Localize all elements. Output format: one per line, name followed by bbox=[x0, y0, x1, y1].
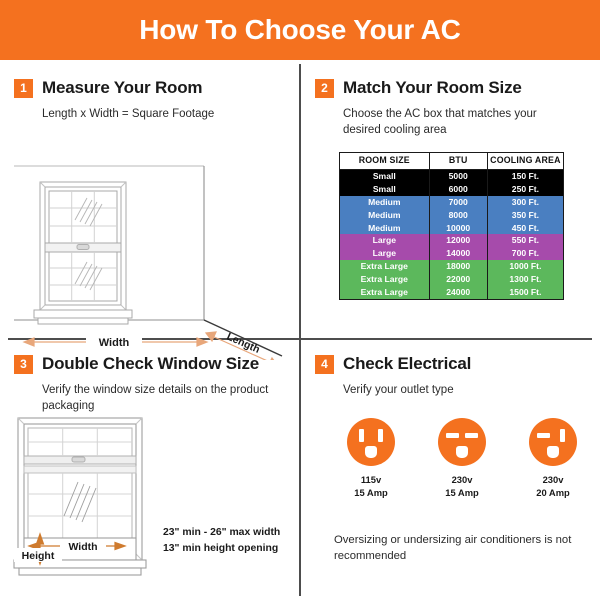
column-header-room-size: ROOM SIZE bbox=[340, 153, 430, 170]
width-label-3: Width bbox=[68, 541, 97, 553]
outlet-slot-right bbox=[378, 429, 383, 442]
step-2-title: Match Your Room Size bbox=[343, 78, 522, 98]
step-3-badge: 3 bbox=[14, 355, 33, 374]
cell-cooling-area: 300 Ft. bbox=[487, 196, 563, 209]
step-4-title: Check Electrical bbox=[343, 354, 471, 374]
outlet-ground-slot bbox=[547, 446, 559, 458]
cell-cooling-area: 350 Ft. bbox=[487, 209, 563, 222]
outlet-230v-20amp: 230v20 Amp bbox=[516, 418, 590, 499]
table-row: Medium8000350 Ft. bbox=[340, 209, 564, 222]
window-note-line-2: 13" min height opening bbox=[163, 541, 298, 557]
step-1-panel: 1 Measure Your Room Length x Width = Squ… bbox=[0, 64, 299, 338]
cell-room-size: Large bbox=[340, 247, 430, 260]
cell-room-size: Small bbox=[340, 169, 430, 182]
btu-table-body: Small5000150 Ft.Small6000250 Ft.Medium70… bbox=[340, 169, 564, 299]
cell-room-size: Extra Large bbox=[340, 273, 430, 286]
outlet-label: 230v15 Amp bbox=[445, 473, 479, 499]
cell-cooling-area: 1300 Ft. bbox=[487, 273, 563, 286]
table-header-row: ROOM SIZE BTU COOLING AREA bbox=[340, 153, 564, 170]
cell-btu: 6000 bbox=[429, 183, 487, 196]
table-row: Medium7000300 Ft. bbox=[340, 196, 564, 209]
step-4-header: 4 Check Electrical bbox=[301, 340, 600, 374]
cell-btu: 14000 bbox=[429, 247, 487, 260]
outlet-ground-slot bbox=[365, 446, 377, 458]
column-header-cooling-area: COOLING AREA bbox=[487, 153, 563, 170]
table-row: Large12000550 Ft. bbox=[340, 234, 564, 247]
step-1-title: Measure Your Room bbox=[42, 78, 202, 98]
cell-btu: 24000 bbox=[429, 286, 487, 299]
cell-room-size: Extra Large bbox=[340, 286, 430, 299]
cell-cooling-area: 700 Ft. bbox=[487, 247, 563, 260]
step-3-title: Double Check Window Size bbox=[42, 354, 259, 374]
table-row: Large14000700 Ft. bbox=[340, 247, 564, 260]
outlet-slot-left bbox=[537, 433, 550, 438]
outlet-icon bbox=[438, 418, 486, 466]
sizing-footnote: Oversizing or undersizing air conditione… bbox=[334, 532, 580, 565]
cell-btu: 10000 bbox=[429, 221, 487, 234]
outlet-amperage: 15 Amp bbox=[354, 486, 388, 499]
cell-room-size: Medium bbox=[340, 209, 430, 222]
page-title: How To Choose Your AC bbox=[139, 14, 460, 46]
step-4-badge: 4 bbox=[315, 355, 334, 374]
cell-cooling-area: 450 Ft. bbox=[487, 221, 563, 234]
step-2-header: 2 Match Your Room Size bbox=[301, 64, 600, 98]
outlet-amperage: 15 Amp bbox=[445, 486, 479, 499]
step-4-subtitle: Verify your outlet type bbox=[343, 382, 575, 398]
outlet-115v-15amp: 115v15 Amp bbox=[334, 418, 408, 499]
window-note-line-1: 23" min - 26" max width bbox=[163, 525, 298, 541]
outlet-amperage: 20 Amp bbox=[536, 486, 570, 499]
height-label: Height bbox=[22, 550, 55, 562]
outlet-voltage: 230v bbox=[445, 473, 479, 486]
table-row: Small6000250 Ft. bbox=[340, 183, 564, 196]
outlet-voltage: 230v bbox=[536, 473, 570, 486]
cell-room-size: Medium bbox=[340, 196, 430, 209]
cell-btu: 18000 bbox=[429, 260, 487, 273]
step-1-subtitle: Length x Width = Square Footage bbox=[42, 106, 274, 122]
cell-btu: 12000 bbox=[429, 234, 487, 247]
outlet-type-group: 115v15 Amp230v15 Amp230v20 Amp bbox=[334, 418, 590, 499]
infographic-page: How To Choose Your AC 1 Measure Your Roo… bbox=[0, 0, 600, 600]
cell-btu: 22000 bbox=[429, 273, 487, 286]
window-size-note: 23" min - 26" max width 13" min height o… bbox=[163, 525, 298, 556]
outlet-voltage: 115v bbox=[354, 473, 388, 486]
btu-sizing-table: ROOM SIZE BTU COOLING AREA Small5000150 … bbox=[339, 152, 564, 300]
cell-room-size: Medium bbox=[340, 221, 430, 234]
step-1-header: 1 Measure Your Room bbox=[0, 64, 299, 98]
step-3-header: 3 Double Check Window Size bbox=[0, 340, 299, 374]
cell-room-size: Small bbox=[340, 183, 430, 196]
outlet-slot-right bbox=[465, 433, 478, 438]
step-2-badge: 2 bbox=[315, 79, 334, 98]
cell-cooling-area: 150 Ft. bbox=[487, 169, 563, 182]
cell-cooling-area: 1000 Ft. bbox=[487, 260, 563, 273]
outlet-icon bbox=[529, 418, 577, 466]
outlet-label: 230v20 Amp bbox=[536, 473, 570, 499]
table-row: Extra Large240001500 Ft. bbox=[340, 286, 564, 299]
cell-room-size: Extra Large bbox=[340, 260, 430, 273]
cell-cooling-area: 250 Ft. bbox=[487, 183, 563, 196]
step-1-badge: 1 bbox=[14, 79, 33, 98]
cell-cooling-area: 1500 Ft. bbox=[487, 286, 563, 299]
outlet-icon bbox=[347, 418, 395, 466]
cell-cooling-area: 550 Ft. bbox=[487, 234, 563, 247]
cell-btu: 8000 bbox=[429, 209, 487, 222]
cell-btu: 7000 bbox=[429, 196, 487, 209]
cell-room-size: Large bbox=[340, 234, 430, 247]
table-row: Medium10000450 Ft. bbox=[340, 221, 564, 234]
outlet-label: 115v15 Amp bbox=[354, 473, 388, 499]
cell-btu: 5000 bbox=[429, 169, 487, 182]
outlet-slot-left bbox=[359, 429, 364, 442]
outlet-ground-slot bbox=[456, 446, 468, 458]
room-measure-diagram: Width Length bbox=[14, 160, 286, 360]
outlet-slot-right bbox=[560, 429, 565, 442]
column-header-btu: BTU bbox=[429, 153, 487, 170]
window-size-diagram: Width Height bbox=[8, 404, 168, 584]
outlet-slot-left bbox=[446, 433, 459, 438]
table-row: Extra Large180001000 Ft. bbox=[340, 260, 564, 273]
table-row: Small5000150 Ft. bbox=[340, 169, 564, 182]
outlet-230v-15amp: 230v15 Amp bbox=[425, 418, 499, 499]
table-row: Extra Large220001300 Ft. bbox=[340, 273, 564, 286]
step-2-subtitle: Choose the AC box that matches your desi… bbox=[343, 106, 575, 139]
page-header: How To Choose Your AC bbox=[0, 0, 600, 60]
